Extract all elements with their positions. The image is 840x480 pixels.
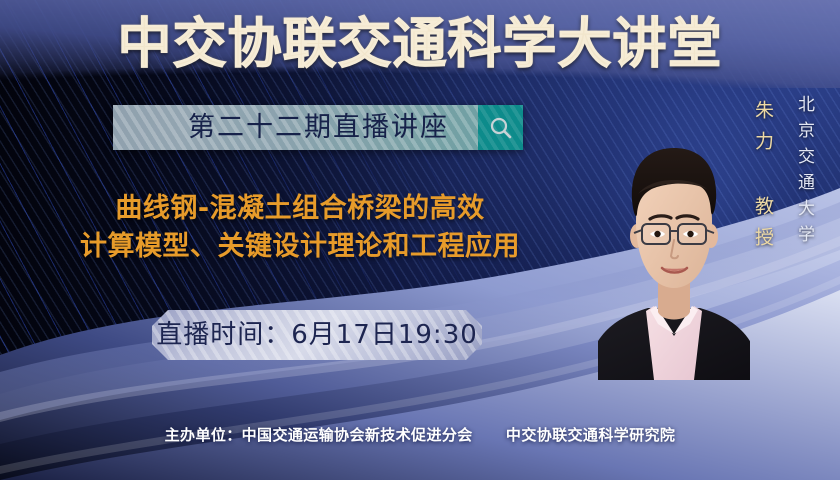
lecture-title-line-1: 曲线钢-混凝土组合桥梁的高效 (0, 190, 600, 228)
speaker-affiliation: 北京交通大学 (792, 95, 817, 251)
episode-label: 第二十二期直播讲座 (142, 114, 449, 141)
search-button[interactable] (478, 105, 523, 150)
poster-canvas: 中交协联交通科学大讲堂 第二十二期直播讲座 曲线钢-混凝土组合桥梁的高效 计算模… (0, 0, 840, 480)
speaker-name: 朱力 教授 (750, 100, 777, 258)
page-title: 中交协联交通科学大讲堂 (0, 14, 840, 74)
lecture-title: 曲线钢-混凝土组合桥梁的高效 计算模型、关键设计理论和工程应用 (0, 190, 600, 266)
footer-organizer-secondary: 中交协联交通科学研究院 (506, 426, 675, 444)
broadcast-time-label: 直播时间：6月17日19:30 (156, 322, 478, 348)
episode-banner: 第二十二期直播讲座 (113, 105, 523, 150)
broadcast-time-badge: 直播时间：6月17日19:30 (152, 310, 482, 360)
episode-banner-bar: 第二十二期直播讲座 (113, 105, 478, 150)
footer-organizer-primary: 主办单位：中国交通运输协会新技术促进分会 (165, 426, 473, 444)
footer: 主办单位：中国交通运输协会新技术促进分会 中交协联交通科学研究院 (0, 425, 840, 445)
search-icon (488, 115, 514, 141)
speaker-portrait (598, 128, 750, 380)
lecture-title-line-2: 计算模型、关键设计理论和工程应用 (0, 228, 600, 266)
